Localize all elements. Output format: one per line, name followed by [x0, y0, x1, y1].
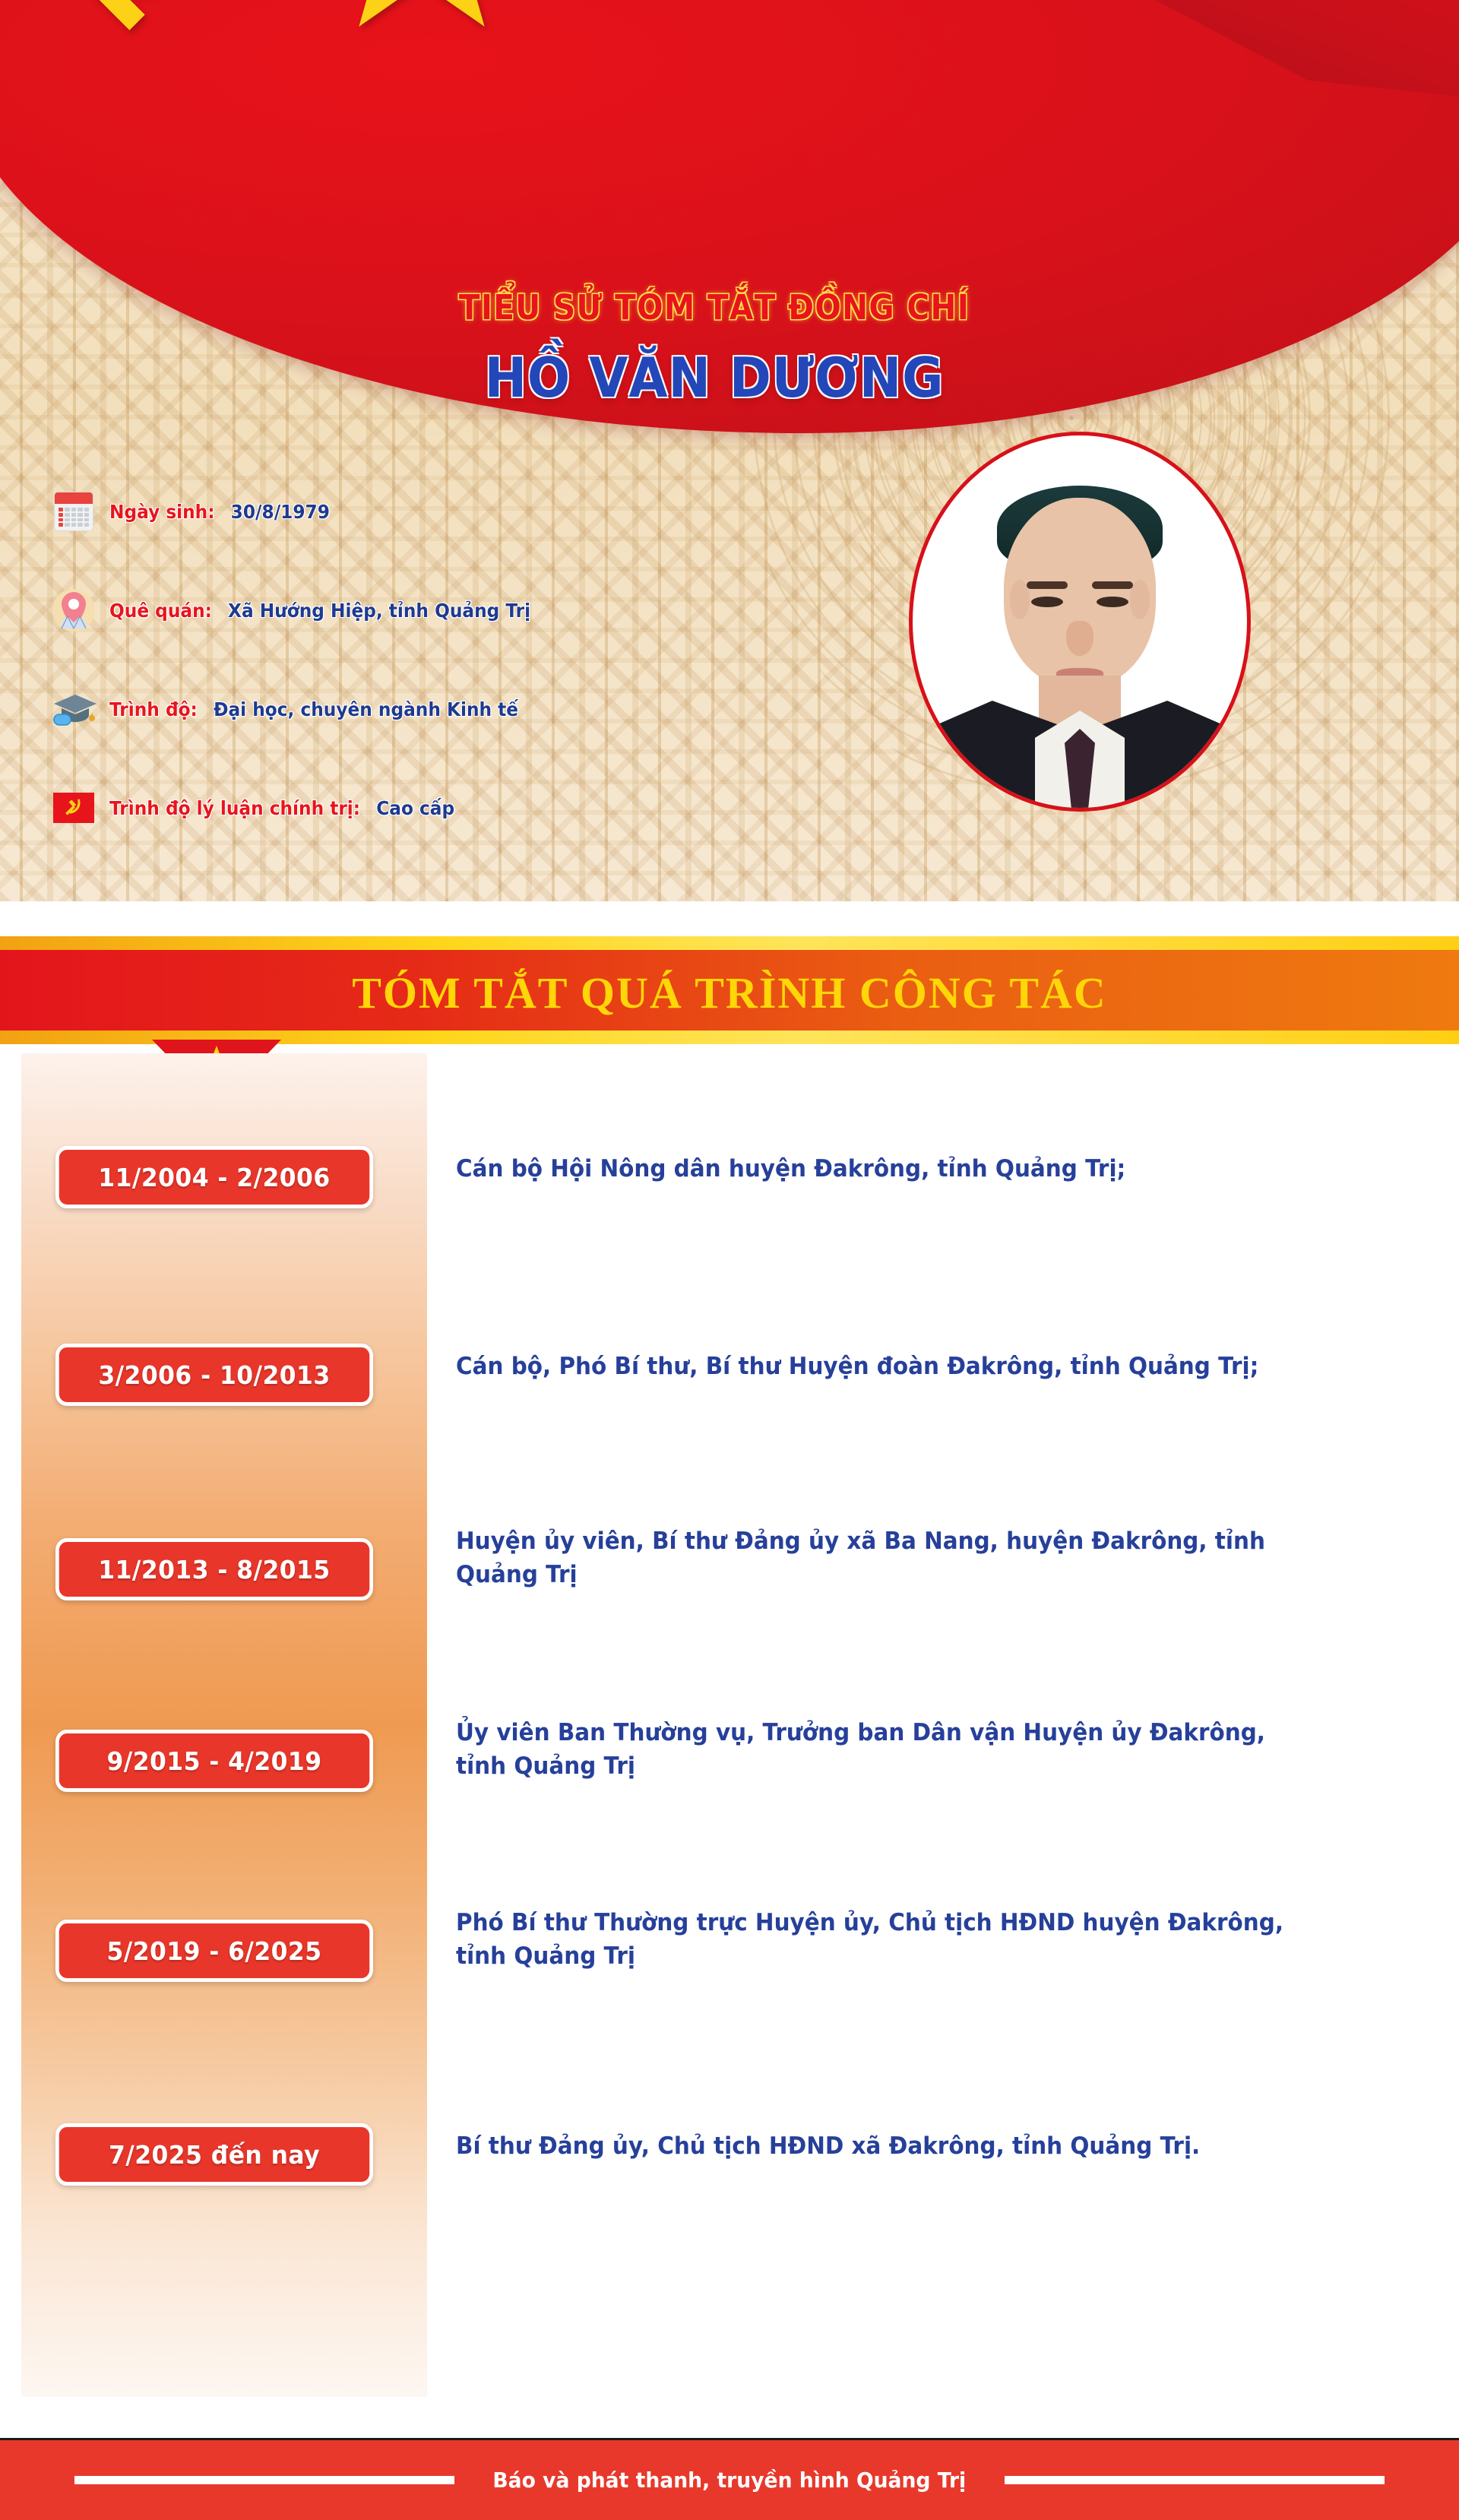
field-value: 30/8/1979	[231, 501, 330, 523]
section-banner: TÓM TẮT QUÁ TRÌNH CÔNG TÁC	[0, 901, 1459, 1053]
calendar-icon	[50, 488, 97, 535]
timeline-description: Ủy viên Ban Thường vụ, Trưởng ban Dân vậ…	[456, 1716, 1322, 1783]
field-value: Xã Hướng Hiệp, tỉnh Quảng Trị	[228, 600, 530, 622]
page-title: HỒ VĂN DƯƠNG	[57, 346, 1372, 410]
hammer-and-sickle-icon	[68, 0, 296, 46]
profile-field-hometown: Quê quán: Xã Hướng Hiệp, tỉnh Quảng Trị	[50, 578, 825, 643]
portrait-eye-right	[1097, 597, 1128, 607]
profile-field-political-theory: Trình độ lý luận chính trị: Cao cấp	[50, 775, 825, 841]
graduation-cap-icon	[50, 685, 97, 733]
section-title: TÓM TẮT QUÁ TRÌNH CÔNG TÁC	[0, 945, 1459, 1040]
timeline-period-chip[interactable]: 5/2019 - 6/2025	[55, 1920, 373, 1982]
field-label: Quê quán:	[109, 600, 212, 622]
footer-rule-right	[1005, 2476, 1385, 2484]
portrait-brow-right	[1092, 581, 1133, 589]
portrait-photo	[909, 432, 1251, 812]
map-pin-icon	[50, 587, 97, 634]
flag-tail	[973, 0, 1459, 106]
footer-rule-left	[74, 2476, 454, 2484]
profile-fields: Ngày sinh: 30/8/1979 Quê quán: Xã Hướng …	[50, 479, 825, 874]
timeline-description: Cán bộ Hội Nông dân huyện Đakrông, tỉnh …	[456, 1152, 1322, 1186]
timeline-description: Huyện ủy viên, Bí thư Đảng ủy xã Ba Nang…	[456, 1524, 1322, 1591]
timeline-gradient-column	[21, 1053, 427, 2397]
field-value: Cao cấp	[376, 797, 454, 819]
timeline-period-chip[interactable]: 7/2025 đến nay	[55, 2123, 373, 2186]
profile-field-education: Trình độ: Đại học, chuyên ngành Kinh tế	[50, 676, 825, 742]
gold-star-icon	[312, 0, 532, 46]
timeline-period-chip[interactable]: 11/2013 - 8/2015	[55, 1538, 373, 1600]
field-label: Trình độ lý luận chính trị:	[109, 797, 360, 819]
timeline-period-chip[interactable]: 11/2004 - 2/2006	[55, 1146, 373, 1208]
footer-credit-bar: Báo và phát thanh, truyền hình Quảng Trị	[0, 2438, 1459, 2520]
timeline-period-chip[interactable]: 3/2006 - 10/2013	[55, 1344, 373, 1406]
career-timeline: 11/2004 - 2/2006 Cán bộ Hội Nông dân huy…	[0, 1053, 1459, 2395]
party-flag-icon	[50, 784, 97, 831]
portrait-nose	[1066, 621, 1093, 656]
profile-field-birthdate: Ngày sinh: 30/8/1979	[50, 479, 825, 544]
timeline-description: Cán bộ, Phó Bí thư, Bí thư Huyện đoàn Đa…	[456, 1350, 1322, 1383]
portrait-brow-left	[1027, 581, 1068, 589]
field-label: Ngày sinh:	[109, 501, 215, 523]
timeline-period-chip[interactable]: 9/2015 - 4/2019	[55, 1730, 373, 1792]
portrait-eye-left	[1031, 597, 1063, 607]
timeline-description: Bí thư Đảng ủy, Chủ tịch HĐND xã Đakrông…	[456, 2129, 1322, 2163]
field-value: Đại học, chuyên ngành Kinh tế	[214, 698, 518, 720]
page-subtitle: TIỂU SỬ TÓM TẮT ĐỒNG CHÍ	[71, 287, 1357, 328]
header-banner: TIỂU SỬ TÓM TẮT ĐỒNG CHÍ HỒ VĂN DƯƠNG	[0, 0, 1459, 901]
footer-credit-text: Báo và phát thanh, truyền hình Quảng Trị	[493, 2468, 967, 2493]
field-label: Trình độ:	[109, 698, 198, 720]
timeline-description: Phó Bí thư Thường trực Huyện ủy, Chủ tịc…	[456, 1906, 1322, 1973]
